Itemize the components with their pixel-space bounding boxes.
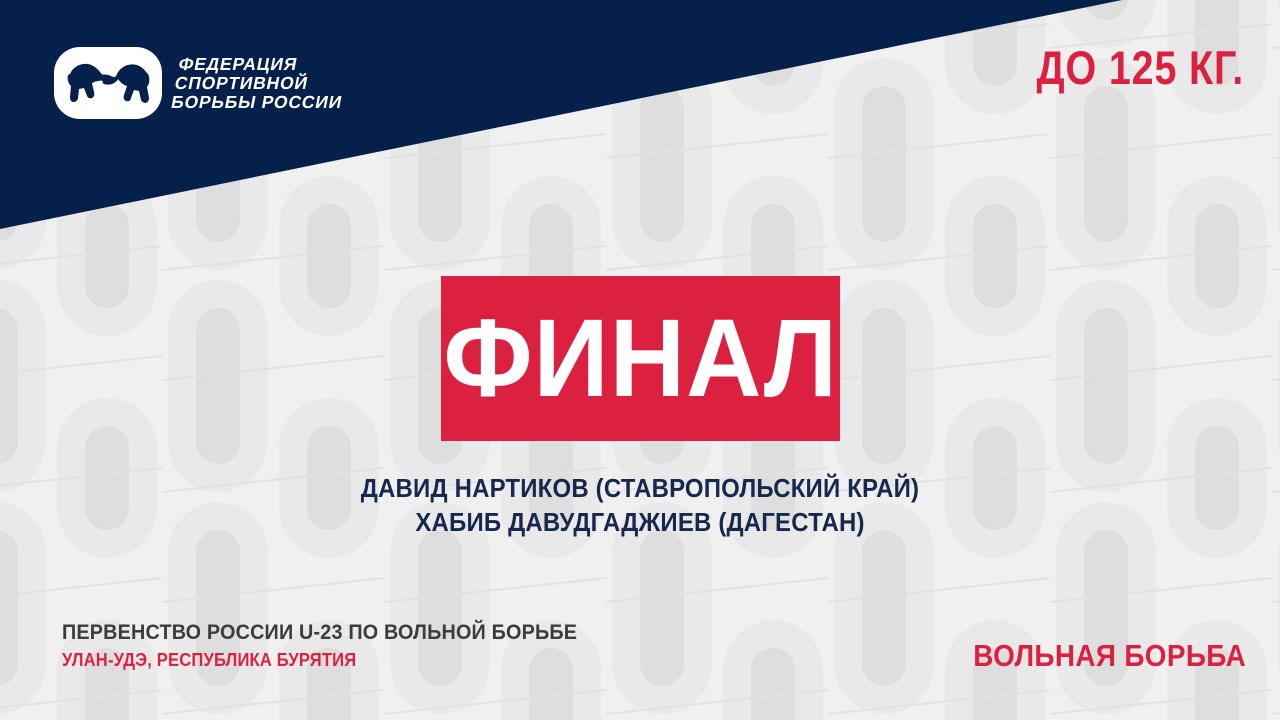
- athletes-block: ДАВИД НАРТИКОВ (СТАВРОПОЛЬСКИЙ КРАЙ) ХАБ…: [0, 473, 1280, 540]
- athlete-name-2: ХАБИБ ДАВУДГАДЖИЕВ (ДАГЕСТАН): [38, 507, 1241, 541]
- broadcast-graphic: ФЕДЕРАЦИЯ СПОРТИВНОЙ БОРЬБЫ РОССИИ ДО 12…: [0, 0, 1280, 720]
- federation-wordmark: ФЕДЕРАЦИЯ СПОРТИВНОЙ БОРЬБЫ РОССИИ: [170, 55, 352, 112]
- stage-badge-label: ФИНАЛ: [443, 304, 838, 414]
- athlete-name-1: ДАВИД НАРТИКОВ (СТАВРОПОЛЬСКИЙ КРАЙ): [38, 473, 1241, 507]
- weight-class-label: ДО 125 КГ.: [1036, 44, 1244, 91]
- discipline-label: ВОЛЬНАЯ БОРЬБА: [973, 637, 1246, 674]
- wrestling-bears-icon: [54, 47, 162, 119]
- wordmark-line-2: СПОРТИВНОЙ: [173, 74, 347, 92]
- wordmark-line-1: ФЕДЕРАЦИЯ: [177, 55, 351, 73]
- wordmark-line-3: БОРЬБЫ РОССИИ: [170, 93, 344, 111]
- event-location: УЛАН-УДЭ, РЕСПУБЛИКА БУРЯТИЯ: [62, 650, 577, 672]
- event-info: ПЕРВЕНСТВО РОССИИ U-23 ПО ВОЛЬНОЙ БОРЬБЕ…: [62, 620, 622, 672]
- federation-logo: ФЕДЕРАЦИЯ СПОРТИВНОЙ БОРЬБЫ РОССИИ: [54, 47, 346, 119]
- event-title: ПЕРВЕНСТВО РОССИИ U-23 ПО ВОЛЬНОЙ БОРЬБЕ: [62, 620, 577, 646]
- stage-badge: ФИНАЛ: [441, 276, 840, 441]
